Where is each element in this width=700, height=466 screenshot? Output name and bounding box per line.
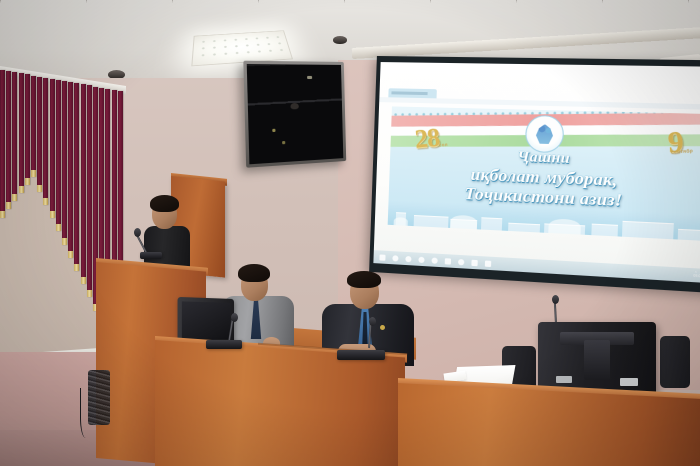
projection-screen[interactable]: 28 сол 9 сентябр Ҷашни иқболат муборак, … <box>369 56 700 293</box>
panelist-left-hair <box>238 264 270 282</box>
table-microphone-left-head <box>231 313 238 322</box>
monitor-label-left <box>556 376 572 383</box>
blind-slat <box>25 74 30 185</box>
table-microphone-left-base[interactable] <box>206 340 242 349</box>
monitor-label-right <box>620 378 638 386</box>
blind-slat <box>37 77 42 192</box>
blind-slat <box>74 83 79 271</box>
blind-slat-tip <box>6 202 11 209</box>
emblem-figure <box>534 124 555 144</box>
blind-slat-tip <box>62 238 67 245</box>
blind-slat <box>50 79 55 218</box>
blind-slat-tip <box>0 211 5 218</box>
blind-slat <box>12 72 17 201</box>
cortana-icon[interactable] <box>418 256 424 262</box>
blind-slat-tip <box>74 264 79 271</box>
chair-backrest-2[interactable] <box>660 336 690 388</box>
presentation-app-icon[interactable] <box>485 260 491 267</box>
panelist-right-hair <box>347 271 381 288</box>
tv-reflection-dot <box>272 129 275 132</box>
projection-surface: 28 сол 9 сентябр Ҷашни иқболат муборак, … <box>373 62 700 284</box>
start-button-icon[interactable] <box>379 254 385 260</box>
blind-slat <box>6 71 11 209</box>
blind-slat <box>31 76 36 177</box>
blind-slat-tip <box>37 185 42 192</box>
blind-slat-tip <box>81 277 86 284</box>
television-screen <box>247 64 344 164</box>
blind-slat-tip <box>68 251 73 258</box>
task-view-icon[interactable] <box>405 255 411 261</box>
floor-cable <box>80 388 94 438</box>
podium-microphone-head <box>134 228 141 237</box>
search-icon[interactable] <box>392 255 398 261</box>
blind-slat-tip <box>87 290 92 297</box>
conference-room-photo: 28 сол 9 сентябр Ҷашни иқболат муборак, … <box>0 0 700 466</box>
blind-slat-tip <box>43 198 48 205</box>
blind-slat <box>43 78 48 205</box>
blind-slat-tip <box>19 186 24 193</box>
blind-slat-tip <box>56 224 61 231</box>
blind-slat <box>68 82 73 258</box>
explorer-icon[interactable] <box>445 258 451 264</box>
table-microphone-center-base[interactable] <box>337 350 385 360</box>
browser-icon[interactable] <box>432 257 438 263</box>
tv-reflection-dot-2 <box>282 140 285 143</box>
app-icon[interactable] <box>471 259 477 265</box>
blind-slat <box>56 80 61 231</box>
table-microphone-right-head <box>552 295 559 304</box>
podium-microphone-base <box>140 252 162 259</box>
media-icon[interactable] <box>458 258 464 264</box>
monitor-stand-mount <box>584 340 610 380</box>
tv-glint <box>307 76 312 79</box>
wall-mounted-television[interactable] <box>243 61 346 168</box>
table-microphone-center-head <box>369 317 376 326</box>
lapel-pin-icon <box>380 325 385 330</box>
blind-slat <box>87 85 92 297</box>
taskbar-clock[interactable]: 18:42 09.09.2019 <box>693 269 700 279</box>
blind-slat <box>0 70 5 218</box>
dome-camera-icon-right <box>333 36 347 44</box>
blind-slat-tip <box>12 194 17 201</box>
blind-slat-tip <box>25 178 30 185</box>
blind-slat-tip <box>31 170 36 177</box>
blind-slat <box>81 84 86 284</box>
speaker-hair <box>150 195 179 212</box>
blind-slat-tip <box>50 211 55 218</box>
presentation-slide: 28 сол 9 сентябр Ҷашни иқболат муборак, … <box>388 106 700 240</box>
blind-slat <box>19 73 24 193</box>
blind-slat <box>62 81 67 245</box>
